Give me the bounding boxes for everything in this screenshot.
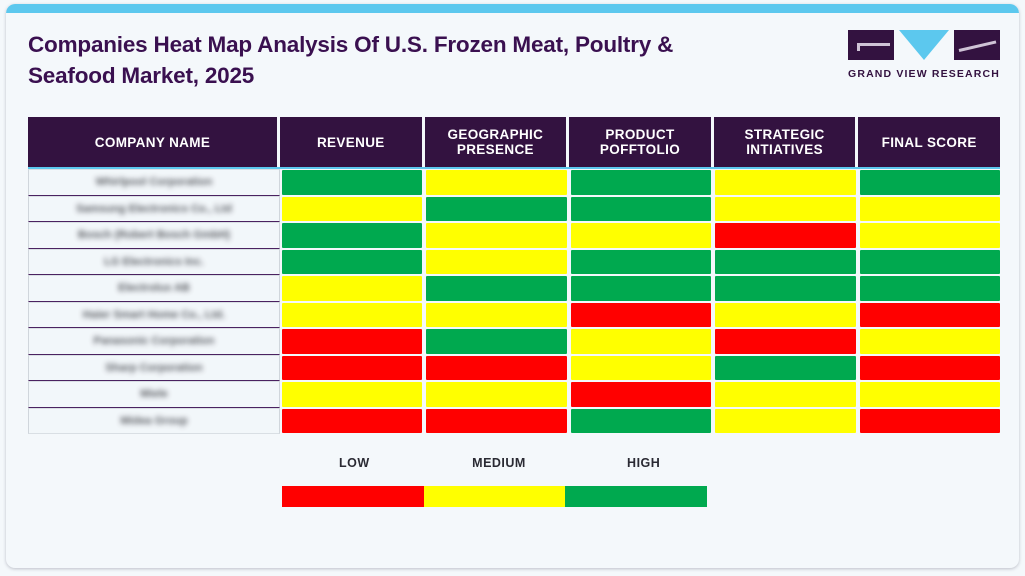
heatmap-cell-medium [715, 197, 855, 222]
heatmap-cell-low [715, 329, 855, 354]
table-row: LG Electronics Inc. [28, 249, 1000, 276]
legend-color-bar [282, 486, 707, 507]
heatmap-cell-high [860, 170, 1000, 195]
company-name-redacted: LG Electronics Inc. [104, 256, 204, 268]
heatmap-cell-low [282, 356, 422, 381]
heatmap-cell-low [860, 356, 1000, 381]
company-name-redacted: Electrolux AB [118, 282, 190, 294]
cell-company-name: Haier Smart Home Co., Ltd. [28, 302, 280, 329]
heatmap-cell-high [426, 276, 566, 301]
company-name-redacted: Midea Group [120, 415, 187, 427]
heatmap-cell-medium [282, 276, 422, 301]
heatmap-cell-low [426, 409, 566, 434]
legend-swatch-high [565, 486, 707, 507]
heatmap-cell-high [715, 276, 855, 301]
heatmap-cell-medium [715, 409, 855, 434]
legend-label-low: LOW [282, 456, 427, 478]
heatmap-cell-medium [860, 223, 1000, 248]
table-row: Haier Smart Home Co., Ltd. [28, 302, 1000, 329]
column-header-company-name: COMPANY NAME [28, 117, 280, 167]
column-header-geographic-presence: GEOGRAPHIC PRESENCE [425, 117, 570, 167]
heatmap-cell-medium [715, 170, 855, 195]
table-body: Whirlpool CorporationSamsung Electronics… [28, 169, 1000, 434]
heatmap-cell-high [571, 250, 711, 275]
heatmap-cell-high [426, 197, 566, 222]
heatmap-table: COMPANY NAME REVENUE GEOGRAPHIC PRESENCE… [28, 117, 1000, 434]
cell-company-name: Midea Group [28, 408, 280, 435]
column-header-product-portfolio: PRODUCT POFFTOLIO [569, 117, 714, 167]
dark-rectangle-mark-icon [848, 30, 894, 60]
table-row: Electrolux AB [28, 275, 1000, 302]
table-row: Panasonic Corporation [28, 328, 1000, 355]
heatmap-cell-low [715, 223, 855, 248]
page-title: Companies Heat Map Analysis Of U.S. Froz… [28, 29, 688, 91]
logo-wordmark: GRAND VIEW RESEARCH [848, 68, 1000, 80]
company-name-redacted: Sharp Corporation [105, 362, 202, 374]
legend-label-medium: MEDIUM [427, 456, 572, 478]
heatmap-cell-medium [426, 170, 566, 195]
company-name-redacted: Whirlpool Corporation [96, 176, 213, 188]
table-row: Bosch (Robert Bosch GmbH) [28, 222, 1000, 249]
heatmap-cell-low [282, 329, 422, 354]
logo: GRAND VIEW RESEARCH [848, 30, 1000, 80]
heatmap-cell-medium [571, 356, 711, 381]
heatmap-cell-medium [282, 303, 422, 328]
heatmap-cell-medium [426, 223, 566, 248]
heatmap-cell-medium [571, 329, 711, 354]
heatmap-cell-high [571, 197, 711, 222]
table-row: Midea Group [28, 408, 1000, 435]
header: Companies Heat Map Analysis Of U.S. Froz… [28, 26, 1000, 100]
heatmap-cell-medium [860, 329, 1000, 354]
legend-swatch-medium [424, 486, 566, 507]
heatmap-cell-high [282, 250, 422, 275]
heatmap-cell-medium [715, 382, 855, 407]
heatmap-cell-high [571, 170, 711, 195]
heatmap-cell-medium [860, 382, 1000, 407]
column-header-final-score: FINAL SCORE [858, 117, 1000, 167]
cell-company-name: Bosch (Robert Bosch GmbH) [28, 222, 280, 249]
heatmap-cell-medium [715, 303, 855, 328]
dark-rectangle-diagonal-mark-icon [954, 30, 1000, 60]
company-name-redacted: Miele [140, 388, 168, 400]
heatmap-cell-medium [426, 382, 566, 407]
legend-swatch-low [282, 486, 424, 507]
heatmap-cell-high [715, 250, 855, 275]
heatmap-cell-high [860, 276, 1000, 301]
column-header-strategic-initiatives: STRATEGIC INTIATIVES [714, 117, 859, 167]
logo-marks [848, 30, 1000, 62]
cell-company-name: LG Electronics Inc. [28, 249, 280, 276]
heatmap-cell-high [571, 276, 711, 301]
table-row: Sharp Corporation [28, 355, 1000, 382]
heatmap-cell-medium [282, 197, 422, 222]
heatmap-cell-high [282, 170, 422, 195]
cell-company-name: Panasonic Corporation [28, 328, 280, 355]
cell-company-name: Sharp Corporation [28, 355, 280, 382]
blue-triangle-mark-icon [899, 30, 949, 60]
cell-company-name: Electrolux AB [28, 275, 280, 302]
company-name-redacted: Haier Smart Home Co., Ltd. [83, 309, 225, 321]
company-name-redacted: Panasonic Corporation [93, 335, 214, 347]
column-header-revenue: REVENUE [280, 117, 425, 167]
cell-company-name: Samsung Electronics Co., Ltd [28, 196, 280, 223]
company-name-redacted: Bosch (Robert Bosch GmbH) [78, 229, 230, 241]
heatmap-cell-high [715, 356, 855, 381]
heatmap-cell-low [571, 382, 711, 407]
heatmap-cell-high [426, 329, 566, 354]
heatmap-cell-high [571, 409, 711, 434]
heatmap-cell-low [571, 303, 711, 328]
heatmap-cell-medium [571, 223, 711, 248]
table-row: Samsung Electronics Co., Ltd [28, 196, 1000, 223]
table-header-row: COMPANY NAME REVENUE GEOGRAPHIC PRESENCE… [28, 117, 1000, 169]
table-row: Whirlpool Corporation [28, 169, 1000, 196]
cell-company-name: Whirlpool Corporation [28, 169, 280, 196]
legend-labels: LOWMEDIUMHIGH [282, 456, 716, 478]
top-accent-bar [6, 4, 1019, 13]
table-row: Miele [28, 381, 1000, 408]
heatmap-cell-high [282, 223, 422, 248]
heatmap-cell-low [860, 409, 1000, 434]
heatmap-cell-medium [426, 303, 566, 328]
heatmap-cell-medium [860, 197, 1000, 222]
heatmap-cell-high [860, 250, 1000, 275]
legend-label-high: HIGH [571, 456, 716, 478]
company-name-redacted: Samsung Electronics Co., Ltd [76, 203, 232, 215]
heatmap-card: Companies Heat Map Analysis Of U.S. Froz… [6, 4, 1019, 568]
heatmap-cell-low [860, 303, 1000, 328]
heatmap-cell-low [426, 356, 566, 381]
heatmap-cell-medium [282, 382, 422, 407]
heatmap-cell-medium [426, 250, 566, 275]
cell-company-name: Miele [28, 381, 280, 408]
heatmap-cell-low [282, 409, 422, 434]
legend: LOWMEDIUMHIGH [282, 456, 716, 507]
